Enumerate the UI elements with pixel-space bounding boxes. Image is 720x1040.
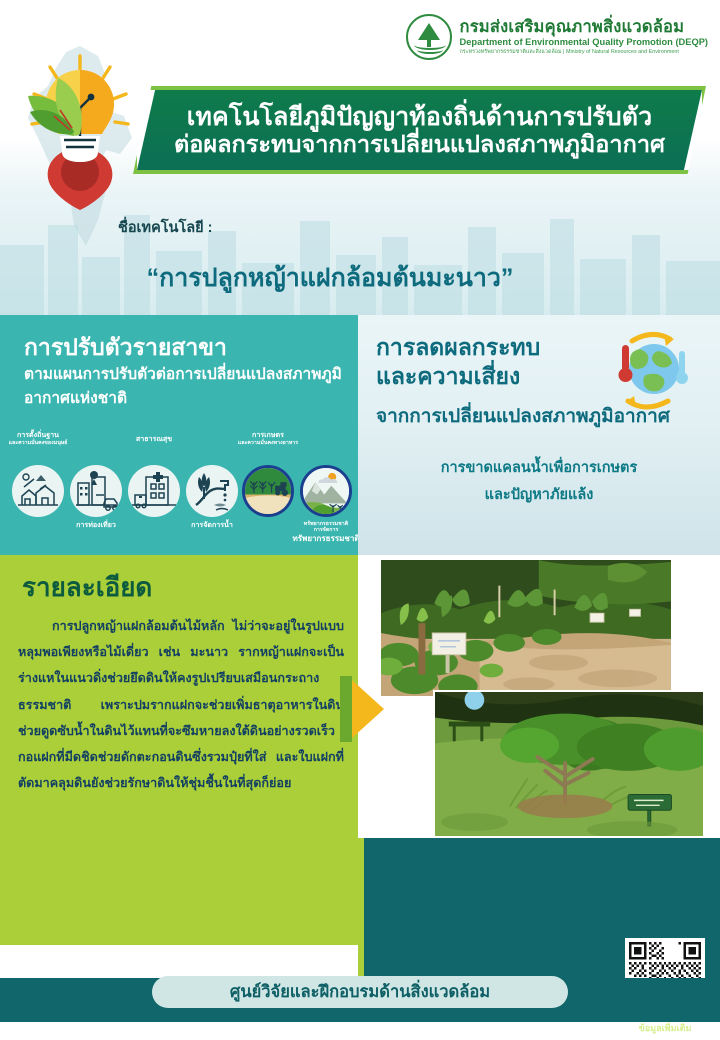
adaptation-subheading: ตามแผนการปรับตัวต่อการเปลี่ยนแปลงสภาพภูม… [24, 363, 342, 411]
mitigation-body: การขาดแคลนน้ำเพื่อการเกษตร และปัญหาภัยแล… [358, 455, 720, 509]
org-name-en: Department of Environmental Quality Prom… [460, 36, 708, 49]
deqp-logo: กรมส่งเสริมคุณภาพสิ่งแวดล้อม Department … [406, 14, 708, 60]
adaptation-heading: การปรับตัวรายสาขา [24, 330, 227, 366]
mitigation-body-line2: และปัญหาภัยแล้ง [358, 482, 720, 509]
sector-label-agriculture: การเกษตร และความมั่นคงทางอาหาร [222, 431, 314, 446]
sector-icon-row: การตั้งถิ่นฐาน และความมั่นคงของมนุษย์ [8, 443, 352, 551]
adaptation-panel: การปรับตัวรายสาขา ตามแผนการปรับตัวต่อการ… [0, 315, 358, 555]
qr-caption: ข้อมูลเพิ่มเติม [620, 1021, 710, 1035]
sector-item-agriculture[interactable]: การเกษตร และความมั่นคงทางอาหาร [242, 465, 294, 517]
footer-text: ศูนย์วิจัยและฝึกอบรมด้านสิ่งแวดล้อม [230, 979, 490, 1005]
details-heading: รายละเอียด [22, 567, 152, 608]
mitigation-heading: การลดผลกระทบ และความเสี่ยง [376, 333, 540, 391]
agriculture-field-icon [242, 465, 294, 517]
sector-item-settlement: การตั้งถิ่นฐาน และความมั่นคงของมนุษย์ [12, 465, 64, 517]
title-line1: เทคโนโลยีภูมิปัญญาท้องถิ่นด้านการปรับตัว [187, 103, 652, 131]
natural-resources-mountain-icon [300, 465, 352, 517]
technology-name: “การปลูกหญ้าแฝกล้อมต้นมะนาว” [0, 258, 660, 298]
tree-water-circle-icon [406, 14, 452, 60]
vetiver-banana-plot-photo [379, 558, 673, 698]
sector-item-natural-resources[interactable]: ทรัพยากรธรรมชาติ การจัดการ ทรัพยากรธรรมช… [300, 465, 352, 517]
sector-item-public-health: สาธารณสุข [128, 465, 180, 517]
tourism-city-car-icon [70, 465, 122, 517]
lightbulb-leaf-map-pin-graphic [14, 52, 144, 212]
mitigation-panel: การลดผลกระทบ และความเสี่ยง จากการเปลี่ยน… [358, 315, 720, 555]
globe-thermometer-icon [602, 327, 698, 413]
hero-section: กรมส่งเสริมคุณภาพสิ่งแวดล้อม Department … [0, 0, 720, 315]
public-health-hospital-icon [128, 465, 180, 517]
water-management-tap-icon [186, 465, 238, 517]
sector-label-tourism: การท่องเที่ยว [56, 521, 136, 530]
mitigation-heading-line2: และความเสี่ยง [376, 362, 540, 391]
settlement-houses-icon [12, 465, 64, 517]
details-panel: รายละเอียด การปลูกหญ้าแฝกล้อมต้นไม้หลัก … [0, 555, 358, 945]
lime-tree-vetiver-ring-photo [433, 690, 705, 838]
sector-item-tourism: การท่องเที่ยว [70, 465, 122, 517]
footer-pill: ศูนย์วิจัยและฝึกอบรมด้านสิ่งแวดล้อม [152, 976, 568, 1008]
mitigation-body-line1: การขาดแคลนน้ำเพื่อการเกษตร [358, 455, 720, 482]
technology-label: ชื่อเทคโนโลยี : [118, 216, 213, 239]
location-accent-bar [358, 838, 364, 978]
sector-label-settlement: การตั้งถิ่นฐาน และความมั่นคงของมนุษย์ [0, 431, 82, 446]
sector-item-water-management: การจัดการน้ำ [186, 465, 238, 517]
mitigation-heading-line1: การลดผลกระทบ [376, 333, 540, 362]
details-body: การปลูกหญ้าแฝกล้อมต้นไม้หลัก ไม่ว่าจะอยู… [18, 613, 344, 796]
location-panel: สถานที่ : ศูนย์ศึกษาการพัฒนาเขาหินซ้อนอั… [358, 838, 720, 978]
sector-label-water-management: การจัดการน้ำ [172, 521, 252, 530]
org-name-th: กรมส่งเสริมคุณภาพสิ่งแวดล้อม [460, 18, 708, 36]
sector-label-public-health: สาธารณสุข [114, 435, 194, 444]
title-line2: ต่อผลกระทบจากการเปลี่ยนแปลงสภาพภูมิอากาศ [174, 131, 665, 157]
title-ribbon: เทคโนโลยีภูมิปัญญาท้องถิ่นด้านการปรับตัว… [137, 90, 702, 170]
org-ministry: กระทรวงทรัพยากรธรรมชาติและสิ่งแวดล้อม | … [460, 49, 708, 56]
poster-root: กรมส่งเสริมคุณภาพสิ่งแวดล้อม Department … [0, 0, 720, 1040]
